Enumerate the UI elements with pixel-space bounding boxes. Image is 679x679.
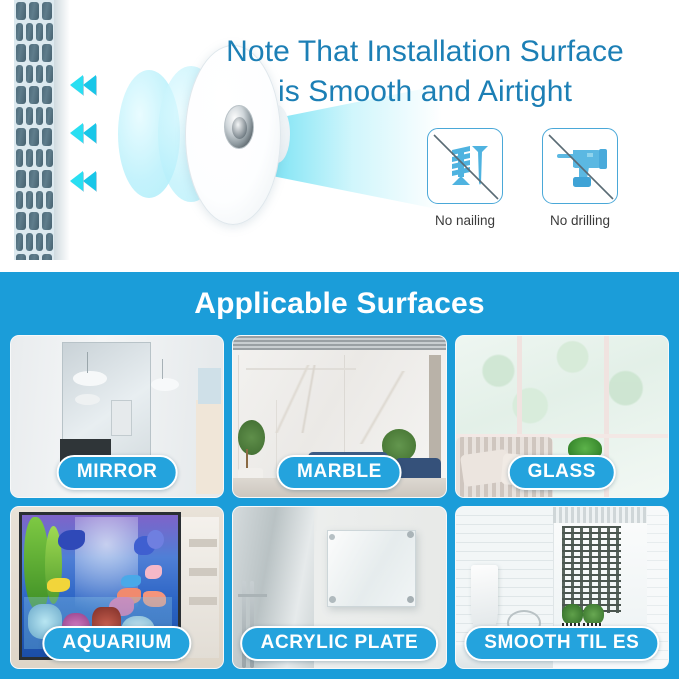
brick-row xyxy=(14,252,54,260)
metal-knob-icon xyxy=(224,105,254,149)
brick xyxy=(26,149,33,167)
brick xyxy=(36,107,43,125)
brick xyxy=(36,191,43,209)
brick xyxy=(46,149,53,167)
wall-shadow xyxy=(54,0,70,260)
no-nailing-icon xyxy=(427,128,503,204)
brick-row xyxy=(14,147,54,168)
brick xyxy=(46,65,53,83)
brick-row xyxy=(14,105,54,126)
headline-line-2: is Smooth and Airtight xyxy=(190,72,660,112)
brick xyxy=(46,107,53,125)
brick xyxy=(42,212,52,230)
brick xyxy=(42,128,52,146)
brick-row xyxy=(14,42,54,63)
brick-row xyxy=(14,126,54,147)
brick-row xyxy=(14,84,54,105)
brick xyxy=(16,86,26,104)
brick xyxy=(16,128,26,146)
brick xyxy=(16,170,26,188)
brick-row xyxy=(14,231,54,252)
brick xyxy=(16,233,23,251)
applicable-surfaces-panel: Applicable Surfaces MIRROR xyxy=(0,272,679,679)
surface-label-marble: MARBLE xyxy=(277,455,402,490)
brick-wall-texture xyxy=(14,0,54,260)
double-chevron-left-icon xyxy=(70,120,112,146)
brick-row xyxy=(14,189,54,210)
surface-label-glass: GLASS xyxy=(508,455,616,490)
brick xyxy=(16,191,23,209)
page-title: Note That Installation Surface is Smooth… xyxy=(190,32,660,111)
double-chevron-left-icon xyxy=(70,168,112,194)
surface-label-mirror: MIRROR xyxy=(57,455,178,490)
surface-card-grid: MIRROR xyxy=(10,335,669,669)
brick xyxy=(46,23,53,41)
no-nailing-label: No nailing xyxy=(417,213,513,228)
brick xyxy=(42,44,52,62)
brick xyxy=(36,23,43,41)
brick xyxy=(36,149,43,167)
brick xyxy=(42,2,52,20)
surface-card-glass[interactable]: GLASS xyxy=(455,335,669,498)
surface-label-acrylic: ACRYLIC PLATE xyxy=(241,626,439,661)
double-chevron-left-icon xyxy=(70,72,112,98)
brick xyxy=(16,44,26,62)
no-drilling-label: No drilling xyxy=(532,213,628,228)
brick-row xyxy=(14,168,54,189)
brick-row xyxy=(14,210,54,231)
surface-label-aquarium: AQUARIUM xyxy=(43,626,192,661)
brick xyxy=(42,170,52,188)
surface-card-mirror[interactable]: MIRROR xyxy=(10,335,224,498)
product-infographic: Note That Installation Surface is Smooth… xyxy=(0,0,679,679)
brick-row xyxy=(14,63,54,84)
no-nailing-badge: No nailing xyxy=(417,128,513,228)
no-drilling-badge: No drilling xyxy=(532,128,628,228)
brick xyxy=(29,170,39,188)
brick-row xyxy=(14,21,54,42)
brick xyxy=(26,23,33,41)
brick xyxy=(16,65,23,83)
installation-surface-panel: Note That Installation Surface is Smooth… xyxy=(0,0,679,272)
brick xyxy=(16,149,23,167)
brick xyxy=(46,233,53,251)
brick xyxy=(26,233,33,251)
brick xyxy=(36,65,43,83)
surface-card-aquarium[interactable]: AQUARIUM xyxy=(10,506,224,669)
brick xyxy=(29,254,39,261)
brick xyxy=(16,2,26,20)
brick xyxy=(16,212,26,230)
brick xyxy=(46,191,53,209)
surface-card-tiles[interactable]: SMOOTH TIL ES xyxy=(455,506,669,669)
brick xyxy=(29,86,39,104)
brick xyxy=(29,44,39,62)
brick xyxy=(26,65,33,83)
brick xyxy=(42,86,52,104)
brick xyxy=(42,254,52,261)
brick xyxy=(16,107,23,125)
brick xyxy=(26,107,33,125)
surface-card-marble[interactable]: MARBLE xyxy=(232,335,446,498)
brick xyxy=(16,254,26,261)
brick-row xyxy=(14,0,54,21)
brick xyxy=(36,233,43,251)
brick xyxy=(29,2,39,20)
brick xyxy=(29,128,39,146)
surface-label-tiles: SMOOTH TIL ES xyxy=(464,626,659,661)
section-title: Applicable Surfaces xyxy=(0,272,679,321)
brick xyxy=(16,23,23,41)
brick xyxy=(29,212,39,230)
no-drilling-icon xyxy=(542,128,618,204)
brick xyxy=(26,191,33,209)
headline-line-1: Note That Installation Surface xyxy=(226,35,624,68)
surface-card-acrylic[interactable]: ACRYLIC PLATE xyxy=(232,506,446,669)
